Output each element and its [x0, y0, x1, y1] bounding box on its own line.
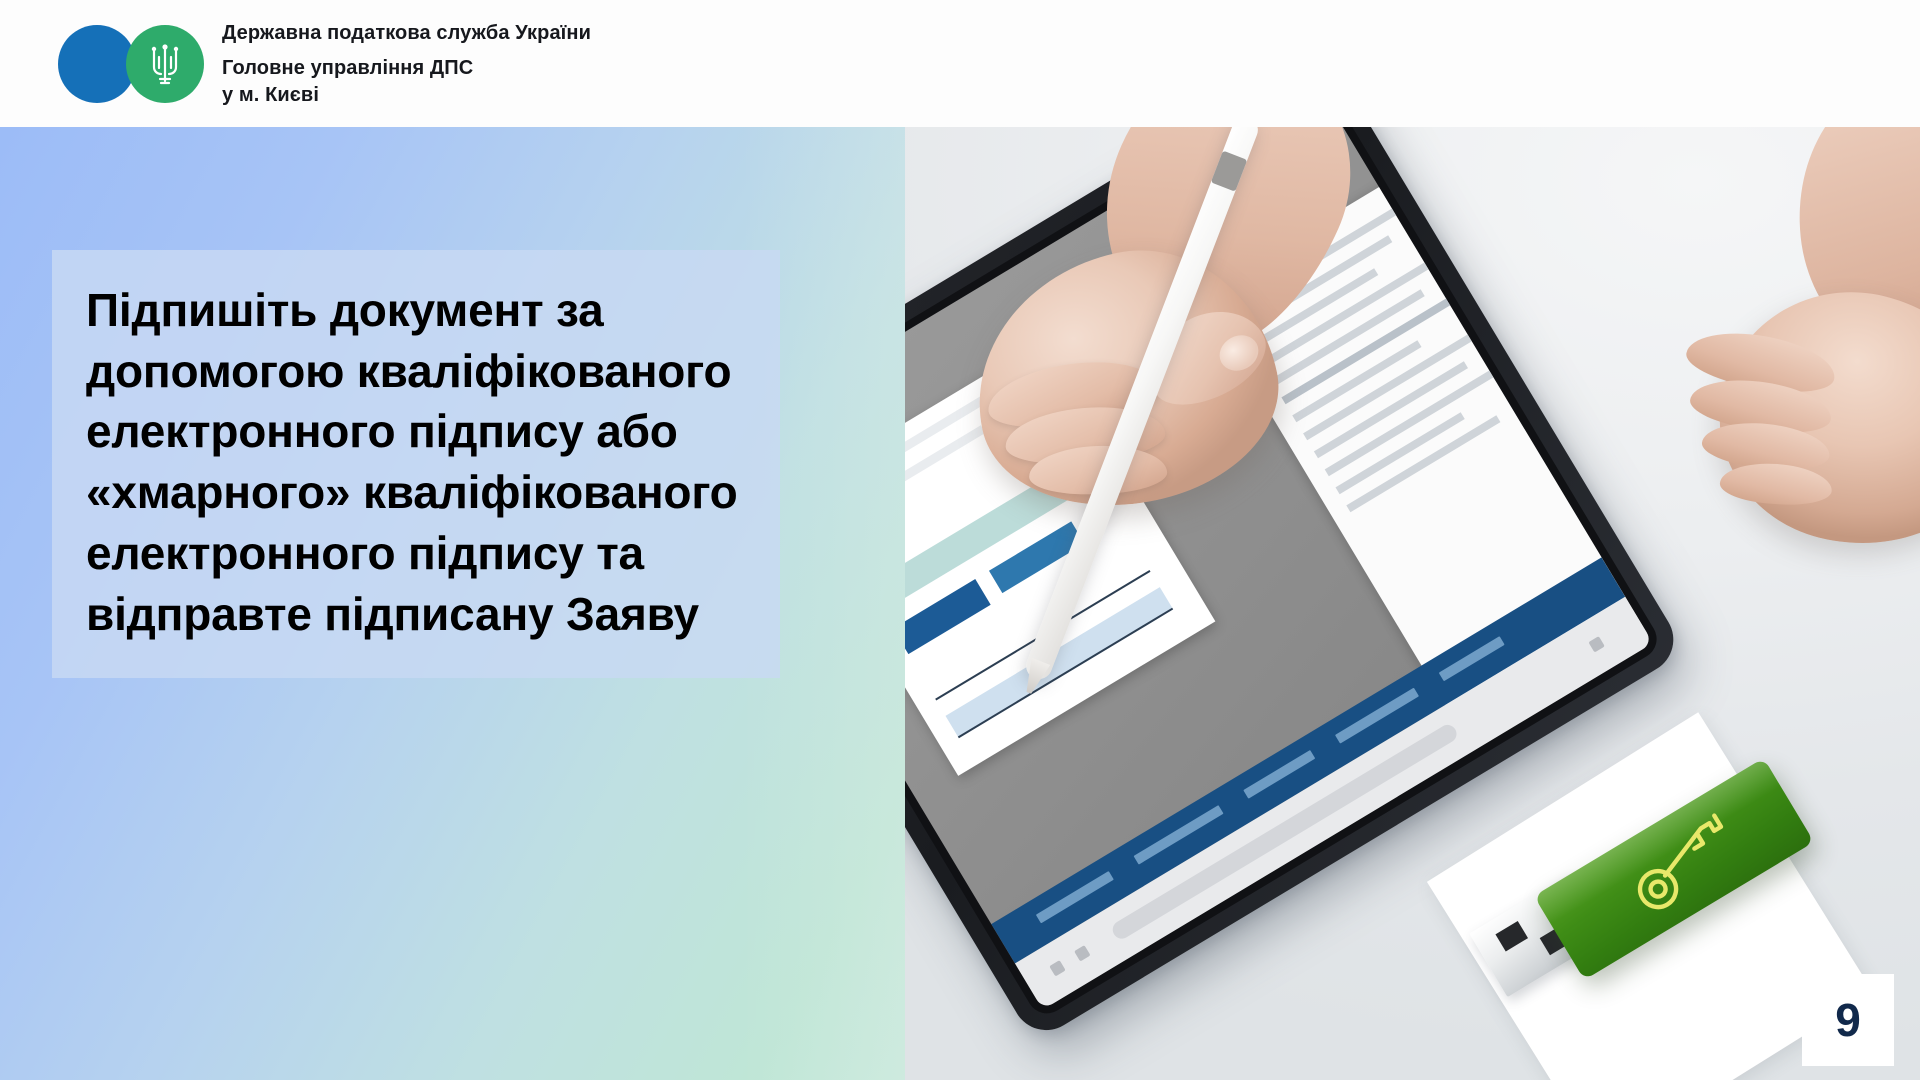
usb-key-token-icon — [1490, 772, 1840, 1080]
organization-logo — [58, 25, 206, 103]
slide-header: Державна податкова служба України Головн… — [0, 0, 1920, 127]
dialog-primary-button — [905, 579, 991, 654]
organization-name: Державна податкова служба України Головн… — [222, 20, 591, 108]
tabs-icon — [1589, 636, 1605, 652]
headline-card: Підпишіть документ за допомогою кваліфік… — [52, 250, 780, 678]
slide-root: Державна податкова служба України Головн… — [0, 0, 1920, 1080]
slide-body: Підпишіть документ за допомогою кваліфік… — [0, 127, 1920, 1080]
page-number: 9 — [1835, 997, 1861, 1043]
page-title: Підпишіть документ за допомогою кваліфік… — [86, 280, 746, 644]
logo-blue-circle-icon — [58, 25, 136, 103]
organization-line-2: Головне управління ДПС — [222, 55, 591, 81]
page-number-badge: 9 — [1802, 974, 1894, 1066]
back-icon — [1050, 960, 1066, 976]
forward-icon — [1074, 945, 1090, 961]
supporting-hand — [1680, 224, 1920, 644]
usb-contact-pin — [1495, 921, 1528, 952]
menu-item — [1346, 415, 1500, 512]
trident-icon — [148, 41, 182, 87]
organization-line-1: Державна податкова служба України — [222, 20, 591, 46]
logo-green-circle-icon — [126, 25, 204, 103]
organization-line-3: у м. Києві — [222, 82, 591, 108]
hand-with-stylus — [933, 158, 1363, 578]
